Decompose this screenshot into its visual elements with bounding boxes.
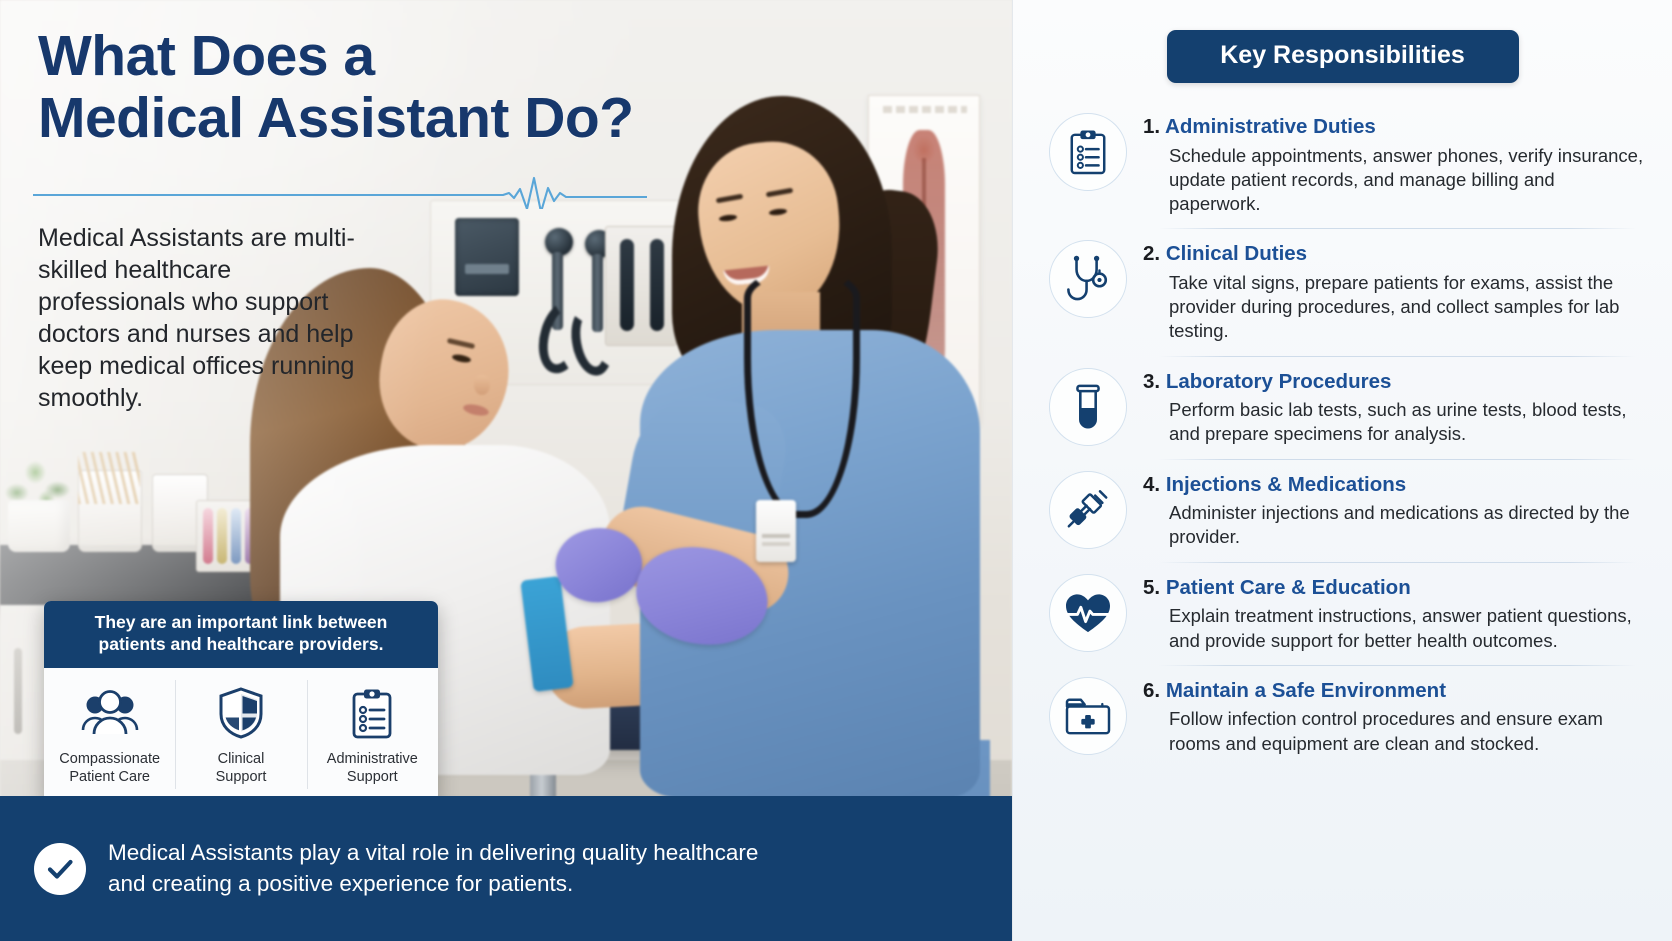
specimen-tube-1 (203, 508, 213, 564)
list-item[interactable]: 5. Patient Care & Education Explain trea… (1031, 562, 1654, 665)
specimen-tube-3 (231, 508, 241, 564)
link-card-column-clinical-support: Clinical Support (175, 668, 306, 801)
list-item-description: Take vital signs, prepare patients for e… (1143, 271, 1648, 344)
list-item-title: 2. Clinical Duties (1143, 242, 1648, 267)
list-item-text: 1. Administrative Duties Schedule appoin… (1143, 113, 1648, 216)
bottom-banner-line-1: Medical Assistants play a vital role in … (108, 838, 758, 868)
patient-nose (474, 375, 490, 395)
link-card-label: Compassionate Patient Care (50, 750, 169, 787)
link-card-label: Administrative Support (313, 750, 432, 787)
link-card-label-line-1: Administrative (313, 750, 432, 769)
page-title: What Does a Medical Assistant Do? (38, 26, 738, 149)
list-item-title: 5. Patient Care & Education (1143, 576, 1648, 601)
list-item-number: 5. (1143, 576, 1160, 599)
test-tube-icon (1049, 368, 1127, 446)
infographic-page: What Does a Medical Assistant Do? Medica… (0, 0, 1672, 941)
list-item[interactable]: 1. Administrative Duties Schedule appoin… (1031, 101, 1654, 228)
list-item-title-text: Injections & Medications (1166, 473, 1406, 496)
link-card-column-administrative-support: Administrative Support (307, 668, 438, 801)
list-item[interactable]: 6. Maintain a Safe Environment Follow in… (1031, 665, 1654, 768)
list-item-title: 3. Laboratory Procedures (1143, 370, 1648, 395)
bottom-banner-text: Medical Assistants play a vital role in … (108, 838, 758, 898)
link-card-label-line-2: Support (181, 768, 300, 787)
plant-pot (8, 500, 70, 552)
heart-pulse-icon (1049, 574, 1127, 652)
link-card: They are an important link between patie… (44, 601, 438, 801)
link-card-label-line-2: Patient Care (50, 768, 169, 787)
link-card-label-line-2: Support (313, 768, 432, 787)
people-group-icon (50, 684, 169, 742)
list-item-title: 4. Injections & Medications (1143, 473, 1648, 498)
list-item[interactable]: 2. Clinical Duties Take vital signs, pre… (1031, 228, 1654, 355)
otoscope-wall-unit (455, 218, 519, 296)
list-item-text: 4. Injections & Medications Administer i… (1143, 471, 1648, 550)
page-title-line-1: What Does a (38, 26, 738, 88)
link-card-columns: Compassionate Patient Care (44, 668, 438, 801)
list-item-description: Explain treatment instructions, answer p… (1143, 604, 1648, 652)
ecg-divider (33, 175, 647, 209)
list-item-description: Follow infection control procedures and … (1143, 707, 1648, 755)
id-badge (756, 500, 796, 562)
list-item-number: 4. (1143, 473, 1160, 496)
cabinet-handle (14, 648, 22, 734)
check-circle-icon (34, 843, 86, 895)
wall-tube-rack (605, 226, 677, 346)
list-item-description: Administer injections and medications as… (1143, 501, 1648, 549)
list-item-number: 3. (1143, 370, 1160, 393)
list-item-number: 2. (1143, 242, 1160, 265)
responsibilities-list: 1. Administrative Duties Schedule appoin… (1031, 101, 1654, 768)
medical-folder-icon (1049, 677, 1127, 755)
ecg-line-icon (33, 175, 647, 209)
poster-header-bar (883, 106, 967, 113)
list-item-description: Schedule appointments, answer phones, ve… (1143, 144, 1648, 217)
stethoscope-icon (1049, 240, 1127, 318)
link-card-label-line-1: Clinical (181, 750, 300, 769)
list-item-title: 6. Maintain a Safe Environment (1143, 679, 1648, 704)
clipboard-checklist-icon (313, 684, 432, 742)
cotton-swab-sticks (78, 452, 140, 504)
key-responsibilities-panel: Key Responsibilities (1012, 0, 1672, 941)
key-responsibilities-title: Key Responsibilities (1167, 30, 1519, 83)
list-item-text: 3. Laboratory Procedures Perform basic l… (1143, 368, 1648, 447)
list-item[interactable]: 3. Laboratory Procedures Perform basic l… (1031, 356, 1654, 459)
link-card-label-line-1: Compassionate (50, 750, 169, 769)
link-card-label: Clinical Support (181, 750, 300, 787)
list-item-text: 5. Patient Care & Education Explain trea… (1143, 574, 1648, 653)
list-item-title-text: Patient Care & Education (1166, 576, 1411, 599)
syringe-icon (1049, 471, 1127, 549)
page-title-line-2: Medical Assistant Do? (38, 88, 738, 150)
link-card-column-compassionate-patient-care: Compassionate Patient Care (44, 668, 175, 801)
bottom-banner-line-2: and creating a positive experience for p… (108, 869, 758, 899)
intro-paragraph: Medical Assistants are multi-skilled hea… (38, 222, 356, 414)
list-item-number: 6. (1143, 679, 1160, 702)
shield-icon (181, 684, 300, 742)
list-item-title-text: Laboratory Procedures (1166, 370, 1392, 393)
list-item-title: 1. Administrative Duties (1143, 115, 1648, 140)
list-item-text: 2. Clinical Duties Take vital signs, pre… (1143, 240, 1648, 343)
bottom-banner: Medical Assistants play a vital role in … (0, 796, 1012, 941)
list-item-title-text: Administrative Duties (1165, 115, 1376, 138)
link-card-heading: They are an important link between patie… (44, 601, 438, 668)
list-item-description: Perform basic lab tests, such as urine t… (1143, 398, 1648, 446)
clipboard-icon (1049, 113, 1127, 191)
left-photo-panel: What Does a Medical Assistant Do? Medica… (0, 0, 1012, 941)
list-item-number: 1. (1143, 115, 1160, 138)
list-item-title-text: Maintain a Safe Environment (1166, 679, 1446, 702)
specimen-tube-2 (217, 508, 227, 564)
list-item-text: 6. Maintain a Safe Environment Follow in… (1143, 677, 1648, 756)
list-item-title-text: Clinical Duties (1166, 242, 1307, 265)
list-item[interactable]: 4. Injections & Medications Administer i… (1031, 459, 1654, 562)
